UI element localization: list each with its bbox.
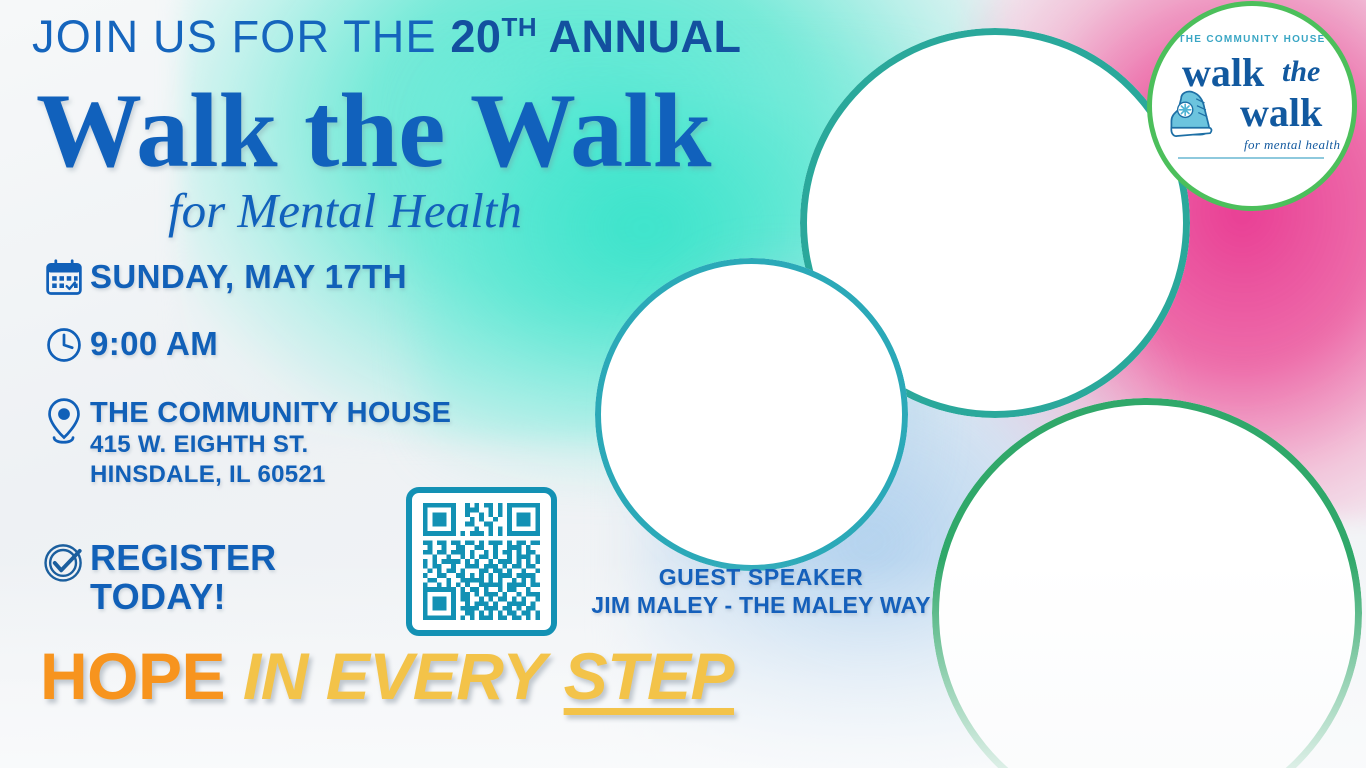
detail-row-date: SUNDAY, MAY 17TH (38, 258, 407, 298)
logo-word-walk-2: walk (1240, 93, 1322, 133)
kicker-ordinal: TH (501, 12, 537, 42)
slogan-word-step: STEP (564, 639, 734, 713)
guest-speaker-name: JIM MALEY - THE MALEY WAY (566, 592, 956, 619)
slogan-word-in-every: IN EVERY (243, 639, 546, 713)
detail-row-time: 9:00 AM (38, 325, 218, 365)
logo-rule (1178, 157, 1324, 159)
check-circle-icon (38, 538, 90, 586)
clock-icon (38, 325, 90, 365)
slogan: HOPE IN EVERY STEP (40, 643, 734, 709)
guest-speaker-portrait-photo (595, 258, 908, 571)
qr-code-modules (422, 503, 541, 620)
detail-row-location: THE COMMUNITY HOUSE 415 W. EIGHTH ST. HI… (38, 396, 451, 490)
register-line-1: REGISTER (90, 538, 276, 577)
location-pin-icon (38, 396, 90, 452)
page-title: Walk the Walk (36, 78, 712, 184)
event-date: SUNDAY, MAY 17TH (90, 258, 407, 296)
qr-code[interactable] (406, 487, 557, 636)
logo-org-text: THE COMMUNITY HOUSE (1178, 34, 1325, 45)
register-callout[interactable]: REGISTER TODAY! (38, 538, 276, 616)
logo-tagline: for mental health (1244, 137, 1340, 153)
calendar-icon (38, 258, 90, 298)
venue-city: HINSDALE, IL 60521 (90, 460, 451, 490)
kicker-number: 20 (450, 11, 501, 62)
venue-street: 415 W. EIGHTH ST. (90, 430, 451, 460)
logo-dash-right-icon (1332, 39, 1345, 41)
event-time: 9:00 AM (90, 325, 218, 363)
register-line-2: TODAY! (90, 577, 276, 616)
venue-name: THE COMMUNITY HOUSE (90, 396, 451, 430)
logo-word-walk-1: walk (1182, 53, 1264, 93)
page-subtitle: for Mental Health (168, 186, 522, 235)
logo-word-the: the (1282, 57, 1320, 87)
poster-canvas: THE COMMUNITY HOUSE walk the walk for me… (0, 0, 1366, 768)
walk-the-walk-logo: THE COMMUNITY HOUSE walk the walk for me… (1152, 6, 1352, 206)
guest-speaker-label: GUEST SPEAKER (566, 564, 956, 591)
kicker-post: ANNUAL (537, 11, 741, 62)
kicker-pre: JOIN US FOR THE (32, 11, 450, 62)
slogan-word-hope: HOPE (40, 639, 225, 713)
kicker-line: JOIN US FOR THE 20TH ANNUAL (32, 14, 741, 59)
logo-org-line: THE COMMUNITY HOUSE (1159, 34, 1344, 45)
color-run-group-celebration-photo (932, 398, 1362, 768)
